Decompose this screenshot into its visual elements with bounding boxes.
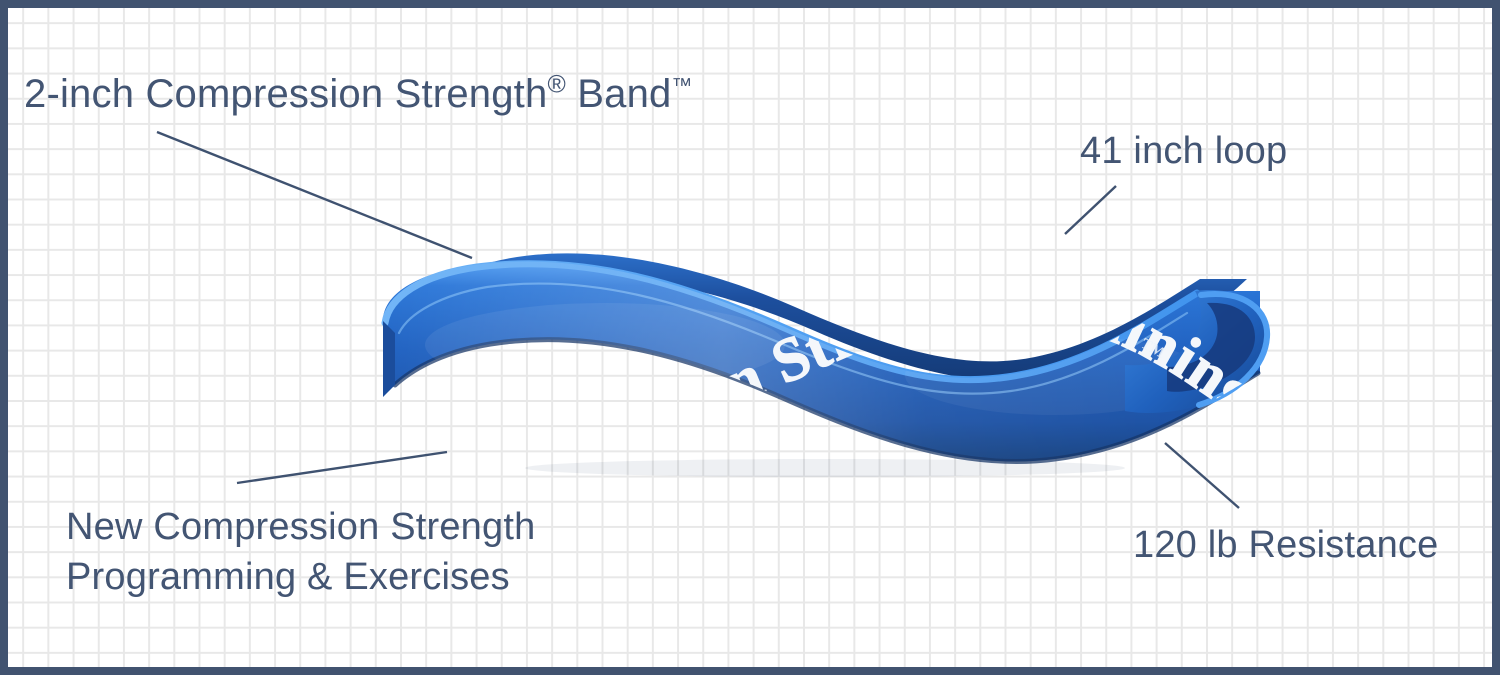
callout-programming-line1: New Compression Strength — [66, 502, 666, 552]
registered-trademark-icon: ® — [547, 72, 565, 99]
callout-programming-line2: Programming & Exercises — [66, 552, 666, 602]
resistance-band-product-image: Compression Strength Training ™ — [355, 225, 1275, 480]
band-left-cut-edge — [383, 321, 395, 397]
callout-band-type-tail: Band — [577, 72, 671, 116]
band-contact-shadow — [525, 459, 1125, 477]
callout-loop-length: 41 inch loop — [1080, 130, 1287, 173]
trademark-icon: ™ — [671, 75, 692, 98]
callout-programming: New Compression Strength Programming & E… — [66, 502, 666, 602]
product-infographic: Compression Strength Training ™ 2-inch C… — [0, 0, 1500, 675]
callout-band-type: 2-inch Compression Strength® Band™ — [24, 72, 692, 117]
callout-band-type-main: 2-inch Compression Strength — [24, 72, 547, 116]
callout-resistance: 120 lb Resistance — [1133, 524, 1438, 567]
